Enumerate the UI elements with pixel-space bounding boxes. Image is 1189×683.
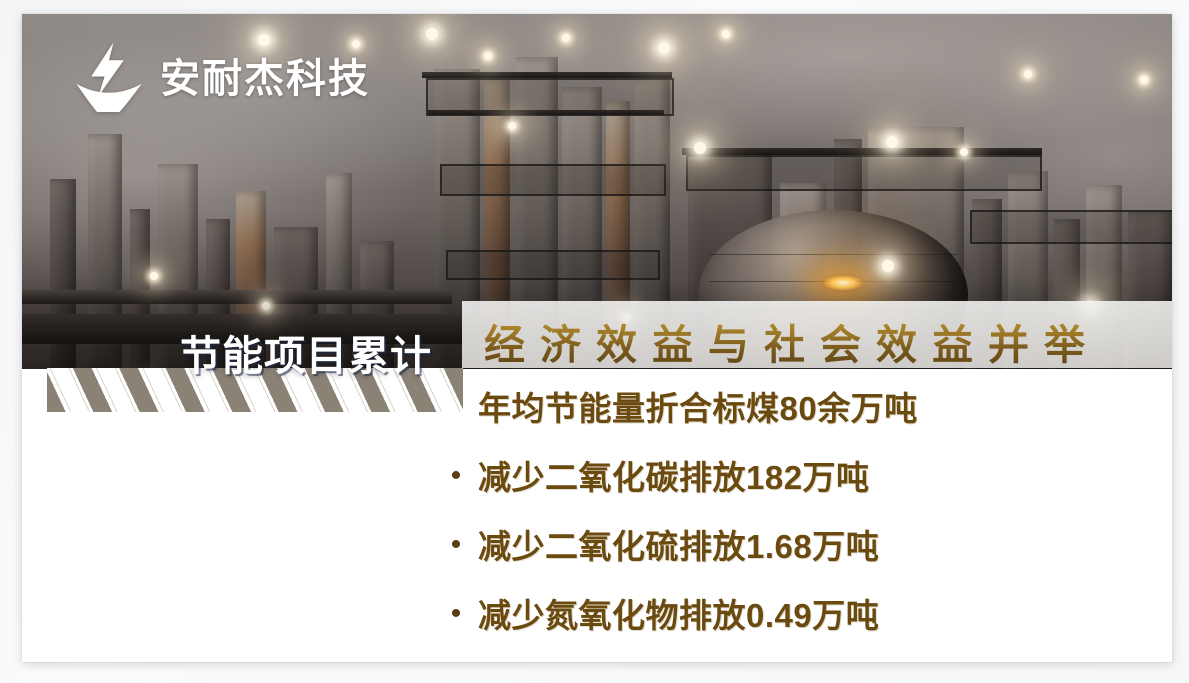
list-item-label: 减少二氧化硫排放1.68万吨 [478,520,879,568]
flood-light [882,260,894,272]
down-arrow-swoosh-icon [76,84,141,112]
flood-light [694,142,706,154]
flood-light [484,52,492,60]
flood-light [960,148,968,156]
list-item: • 减少氮氧化物排放0.49万吨 [434,589,1154,658]
lightning-bolt-icon [72,38,146,112]
bullet-marker-icon: • [434,530,478,560]
flood-light [426,28,438,40]
flood-light [508,122,516,130]
brand-name: 安耐杰科技 [160,46,370,104]
section-subtitle: 节能项目累计 [180,322,432,382]
slide-canvas: 安耐杰科技 节能项目累计 经济效益与社会效益并举 • 年均节能量折合标煤80余万… [22,14,1172,662]
list-item-label: 年均节能量折合标煤80余万吨 [478,382,918,430]
bullet-marker-icon: • [434,461,478,491]
scaffold-frame [970,210,1172,244]
list-item-label: 减少氮氧化物排放0.49万吨 [478,589,879,637]
scaffold-frame [440,164,666,196]
scaffold-frame [446,250,660,280]
scaffold-frame [686,155,1042,191]
flood-light [722,30,730,38]
flood-light [1024,70,1032,78]
list-item: • 年均节能量折合标煤80余万吨 [434,382,1154,451]
flood-light [658,42,670,54]
pipe-bridge [682,148,1042,155]
flood-light [886,136,898,148]
page-root: 安耐杰科技 节能项目累计 经济效益与社会效益并举 • 年均节能量折合标煤80余万… [0,0,1189,683]
list-item: • 减少二氧化硫排放1.68万吨 [434,520,1154,589]
list-item-label: 减少二氧化碳排放182万吨 [478,451,870,499]
bullet-marker-icon: • [434,599,478,629]
list-item: • 减少二氧化碳排放182万吨 [434,451,1154,520]
scaffold-frame [426,78,674,116]
brand-logo[interactable]: 安耐杰科技 [72,38,370,112]
tank-rib [709,254,957,255]
section-title: 经济效益与社会效益并举 [484,311,1100,371]
flood-light [562,34,570,42]
achievements-list: • 年均节能量折合标煤80余万吨 • 减少二氧化碳排放182万吨 • 减少二氧化… [434,382,1154,658]
flood-light [1140,76,1148,84]
